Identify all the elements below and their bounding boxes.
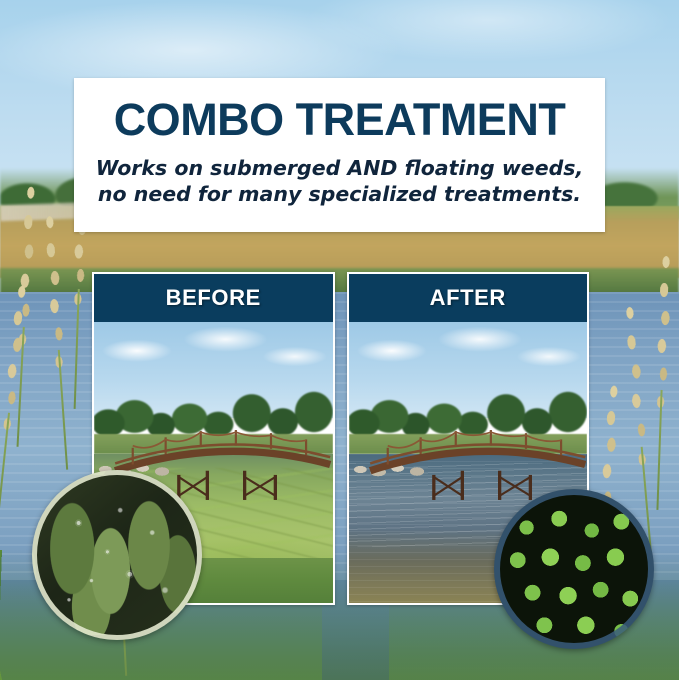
headline-subtitle: Works on submerged AND floating weeds, n… (96, 155, 584, 207)
photo-tree-line (94, 384, 333, 440)
submerged-weed-inset: Close-up of submerged pondweed leaves be… (32, 470, 202, 640)
panel-header-after: AFTER (349, 274, 588, 322)
page-title: COMBO TREATMENT (114, 97, 566, 143)
water-droplets (37, 475, 197, 635)
headline-subtitle-line-1: Works on submerged AND floating weeds, (96, 155, 584, 181)
headline-subtitle-line-2: no need for many specialized treatments. (96, 181, 584, 207)
headline-card: COMBO TREATMENT Works on submerged AND f… (74, 78, 605, 232)
photo-far-bank (349, 434, 588, 454)
floating-weed-inset: Close-up of floating duckweed and lily p… (494, 489, 654, 649)
photo-far-bank (94, 434, 333, 454)
poster-canvas: Farm pond scene with blue sky, tree line… (0, 0, 679, 680)
panel-header-before: BEFORE (94, 274, 333, 322)
photo-tree-line (349, 384, 588, 440)
photo-shoreline-rocks (349, 457, 430, 482)
